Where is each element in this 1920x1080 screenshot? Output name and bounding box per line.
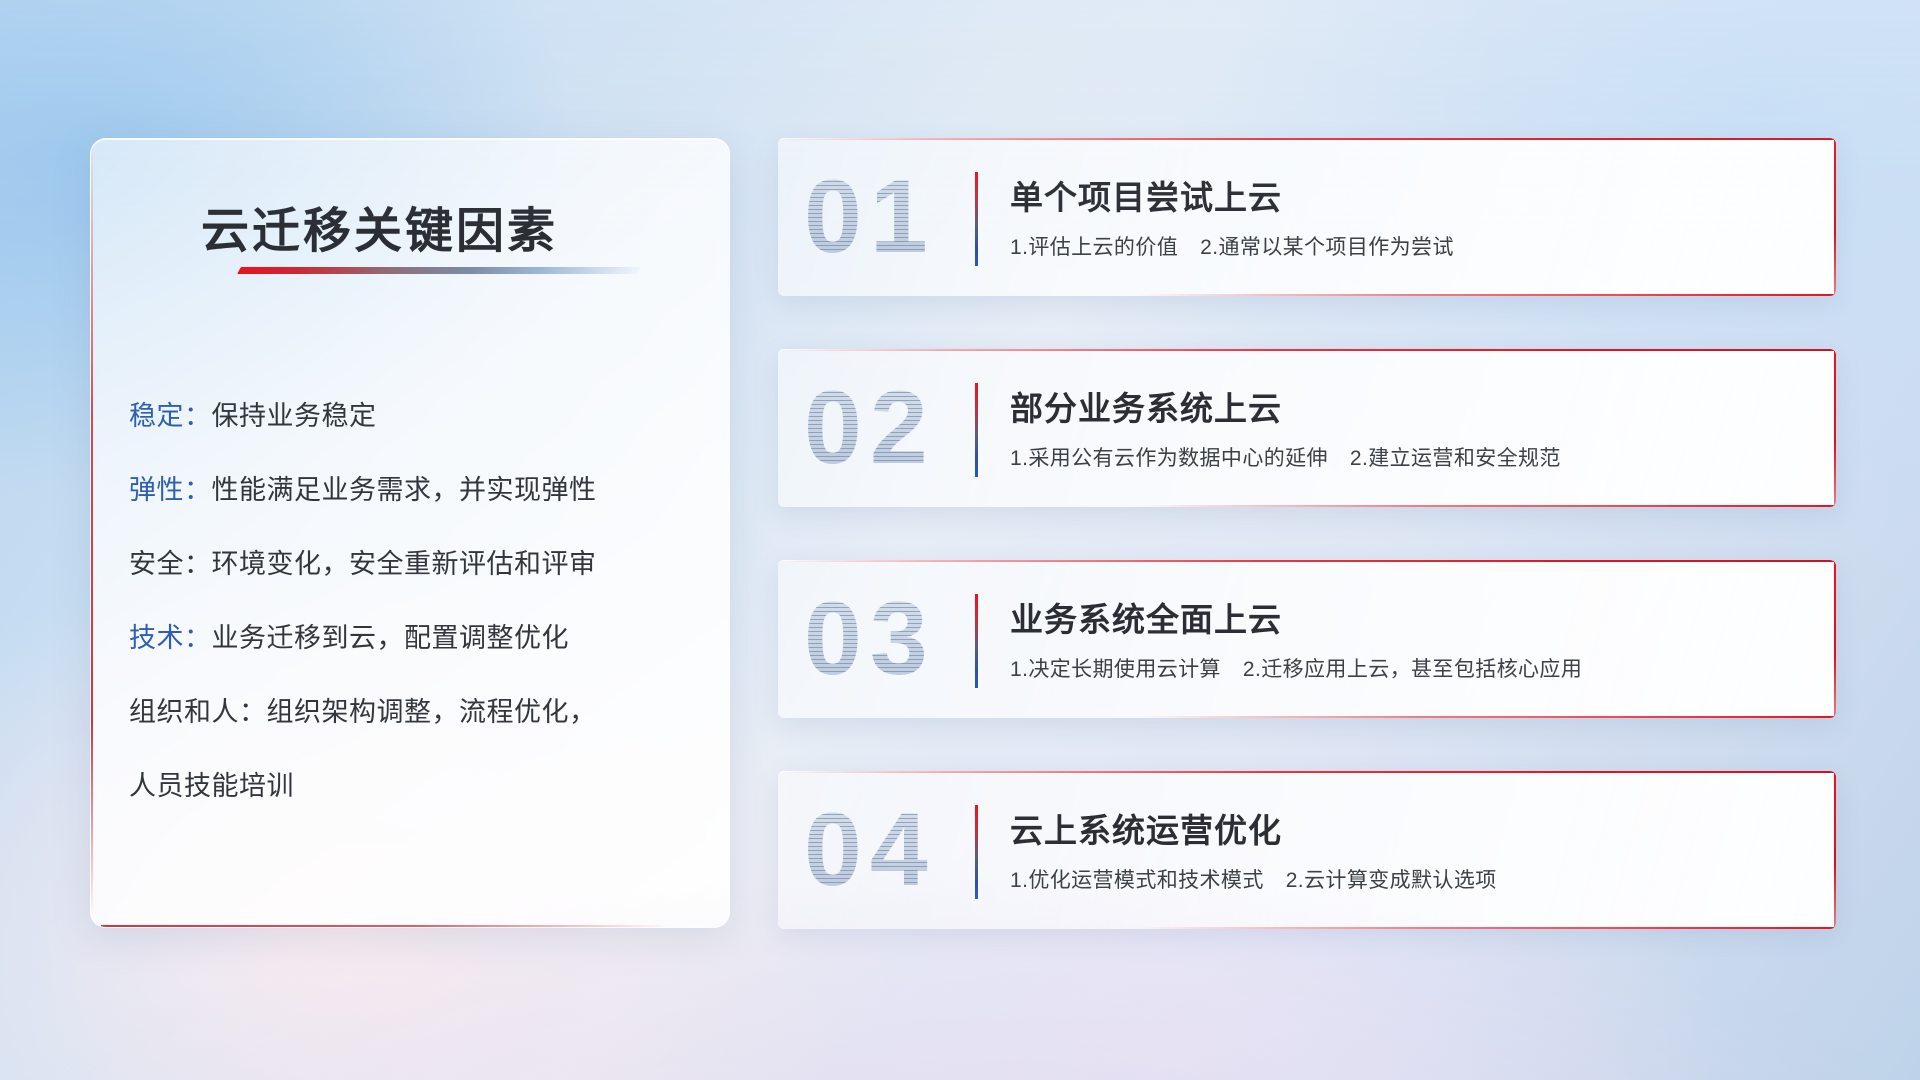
key-factors-card: 云迁移关键因素 稳定：保持业务稳定 弹性：性能满足业务需求，并实现弹性 安全：环… [90, 138, 730, 928]
list-item-text: 性能满足业务需求，并实现弹性 [212, 475, 597, 505]
card-top-accent-line [778, 560, 1836, 562]
step-description: 1.优化运营模式和技术模式2.云计算变成默认选项 [1010, 864, 1497, 894]
step-title: 单个项目尝试上云 [1010, 171, 1282, 219]
card-top-accent-line [778, 349, 1836, 351]
list-item-text: 人员技能培训 [129, 771, 294, 801]
card-left-accent-line [91, 143, 93, 917]
step-card-03[interactable]: 03 业务系统全面上云 1.决定长期使用云计算2.迁移应用上云，甚至包括核心应用 [778, 560, 1836, 718]
step-point-2: 2.通常以某个项目作为尝试 [1200, 236, 1454, 259]
card-right-accent-line [1834, 771, 1836, 929]
step-point-2: 2.云计算变成默认选项 [1286, 869, 1497, 892]
card-right-accent-line [1834, 138, 1836, 296]
step-number: 03 [804, 587, 936, 691]
step-point-1: 1.评估上云的价值 [1010, 236, 1178, 259]
list-item: 弹性：性能满足业务需求，并实现弹性 [129, 453, 701, 527]
slide-canvas: 云迁移关键因素 稳定：保持业务稳定 弹性：性能满足业务需求，并实现弹性 安全：环… [0, 0, 1920, 1080]
step-description: 1.采用公有云作为数据中心的延伸2.建立运营和安全规范 [1010, 442, 1561, 472]
list-item-label: 安全： [129, 549, 212, 579]
list-item-label: 技术： [129, 623, 212, 653]
step-card-04[interactable]: 04 云上系统运营优化 1.优化运营模式和技术模式2.云计算变成默认选项 [778, 771, 1836, 929]
list-item: 稳定：保持业务稳定 [129, 379, 701, 453]
list-item-text: 保持业务稳定 [212, 401, 377, 431]
step-divider-line [975, 594, 978, 688]
step-description: 1.决定长期使用云计算2.迁移应用上云，甚至包括核心应用 [1010, 653, 1582, 683]
list-item-text: 业务迁移到云，配置调整优化 [212, 623, 570, 653]
card-bottom-accent-line [1138, 716, 1836, 718]
migration-steps-list: 01 单个项目尝试上云 1.评估上云的价值2.通常以某个项目作为尝试 02 部分… [778, 138, 1836, 982]
card-top-accent-line [778, 138, 1836, 140]
card-right-accent-line [1834, 560, 1836, 718]
step-point-1: 1.采用公有云作为数据中心的延伸 [1010, 447, 1328, 470]
step-number: 02 [804, 376, 936, 480]
card-bottom-accent-line [101, 925, 669, 927]
step-card-02[interactable]: 02 部分业务系统上云 1.采用公有云作为数据中心的延伸2.建立运营和安全规范 [778, 349, 1836, 507]
step-point-1: 1.优化运营模式和技术模式 [1010, 869, 1264, 892]
step-title: 部分业务系统上云 [1010, 382, 1282, 430]
step-title: 云上系统运营优化 [1010, 804, 1282, 852]
list-item-label: 稳定： [129, 401, 212, 431]
step-divider-line [975, 383, 978, 477]
step-card-01[interactable]: 01 单个项目尝试上云 1.评估上云的价值2.通常以某个项目作为尝试 [778, 138, 1836, 296]
list-item: 组织和人：组织架构调整，流程优化， [129, 675, 701, 749]
step-description: 1.评估上云的价值2.通常以某个项目作为尝试 [1010, 231, 1454, 261]
page-title: 云迁移关键因素 [201, 191, 558, 261]
step-number: 04 [804, 798, 936, 902]
card-bottom-accent-line [1138, 294, 1836, 296]
step-number: 01 [804, 165, 936, 269]
card-bottom-accent-line [1138, 927, 1836, 929]
step-divider-line [975, 172, 978, 266]
step-title: 业务系统全面上云 [1010, 593, 1282, 641]
list-item-text: 组织架构调整，流程优化， [267, 697, 597, 727]
step-point-1: 1.决定长期使用云计算 [1010, 658, 1221, 681]
list-item: 技术：业务迁移到云，配置调整优化 [129, 601, 701, 675]
list-item-label: 组织和人： [129, 697, 267, 727]
step-point-2: 2.迁移应用上云，甚至包括核心应用 [1243, 658, 1582, 681]
key-factors-list: 稳定：保持业务稳定 弹性：性能满足业务需求，并实现弹性 安全：环境变化，安全重新… [129, 379, 701, 823]
card-right-accent-line [1834, 349, 1836, 507]
card-bottom-accent-line [1138, 505, 1836, 507]
title-underline-accent [237, 267, 641, 274]
list-item-label: 弹性： [129, 475, 212, 505]
list-item: 安全：环境变化，安全重新评估和评审 [129, 527, 701, 601]
step-divider-line [975, 805, 978, 899]
list-item-text: 环境变化，安全重新评估和评审 [212, 549, 597, 579]
list-item-continuation: 人员技能培训 [129, 749, 701, 823]
step-point-2: 2.建立运营和安全规范 [1350, 447, 1561, 470]
card-top-accent-line [778, 771, 1836, 773]
